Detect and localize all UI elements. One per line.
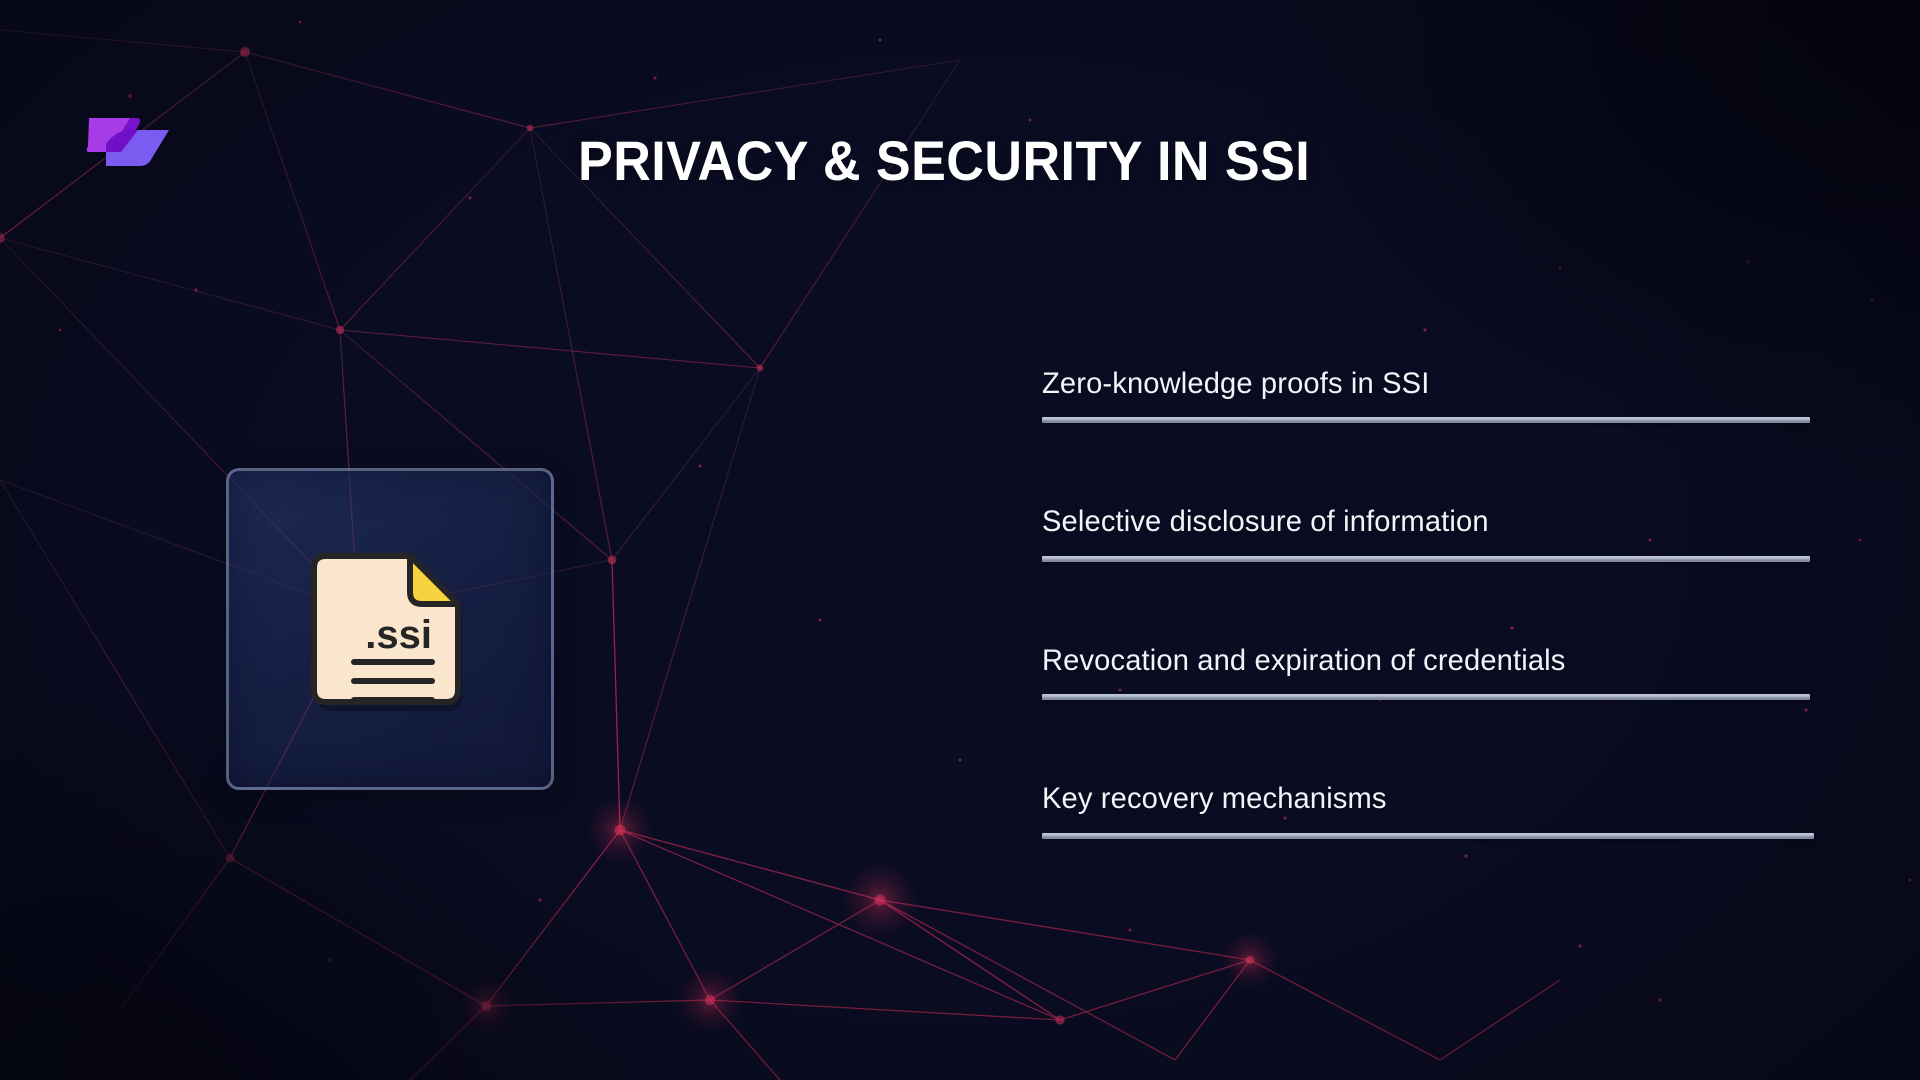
list-item-underline [1042,694,1810,700]
list-item[interactable]: Key recovery mechanisms [1042,781,1812,838]
page-title: PRIVACY & SECURITY IN SSI [578,131,1310,191]
list-item[interactable]: Revocation and expiration of credentials [1042,643,1812,700]
ssi-document-icon: .ssi [310,544,470,714]
list-item-label: Zero-knowledge proofs in SSI [1042,366,1789,401]
ssi-document-card: .ssi [226,468,554,790]
list-item-label: Selective disclosure of information [1042,504,1789,539]
list-item-underline [1042,833,1814,839]
brand-chevron-logo[interactable] [86,108,172,174]
topic-list: Zero-knowledge proofs in SSI Selective d… [1042,366,1812,839]
slide-canvas: PRIVACY & SECURITY IN SSI .ssi Zero-know… [0,0,1920,1080]
ssi-extension-label: .ssi [365,613,432,657]
list-item-label: Key recovery mechanisms [1042,781,1789,816]
list-item-underline [1042,417,1810,423]
list-item[interactable]: Zero-knowledge proofs in SSI [1042,366,1812,423]
list-item-underline [1042,556,1810,562]
list-item[interactable]: Selective disclosure of information [1042,504,1812,561]
list-item-label: Revocation and expiration of credentials [1042,643,1789,678]
